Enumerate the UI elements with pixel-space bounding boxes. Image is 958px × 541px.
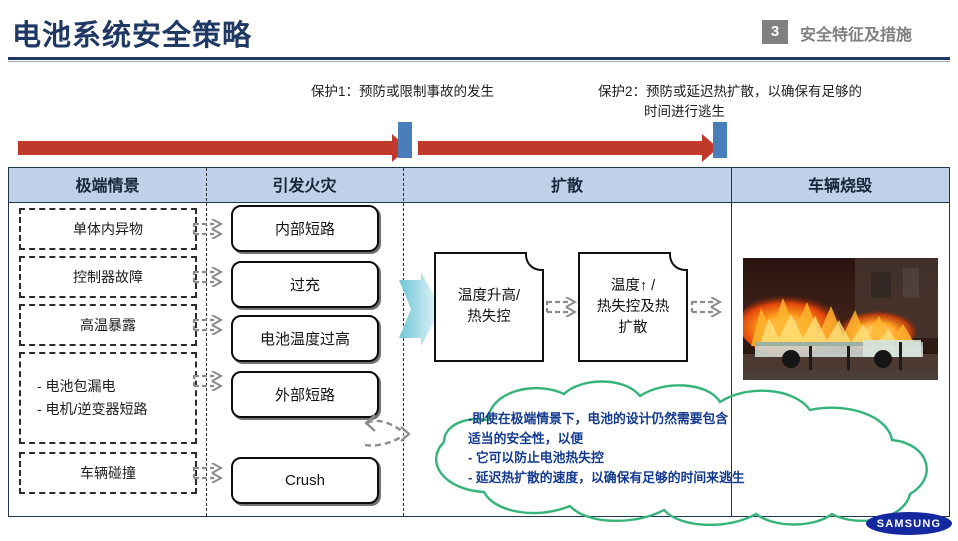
cause-box-1[interactable]: 内部短路 — [231, 205, 379, 252]
cause-label-4: 外部短路 — [275, 384, 335, 405]
section-number-badge: 3 — [762, 20, 788, 44]
connector-arrow-2 — [192, 267, 226, 287]
connector-arrow-5 — [192, 463, 226, 483]
slide-root: 电池系统安全策略 3 安全特征及措施 保护1：预防或限制事故的发生 保护2：预防… — [0, 0, 958, 541]
cloud-callout-text: -即使在极端情景下，电池的设计仍然需要包含 适当的安全性，以便 - 它可以防止电… — [468, 409, 898, 487]
protection-2-caption: 保护2：预防或延迟热扩散，以确保有足够的 时间进行逃生 — [598, 82, 862, 122]
scenario-label-5: 车辆碰撞 — [80, 463, 136, 483]
scenario-label-2: 控制器故障 — [73, 267, 143, 287]
protection-2-marker — [713, 122, 727, 158]
scenario-box-5[interactable]: 车辆碰撞 — [19, 452, 197, 494]
scenario-label-1: 单体内异物 — [73, 219, 143, 239]
connector-arrow-1 — [192, 219, 226, 239]
column-header-extreme-scenario: 极端情景 — [9, 168, 206, 203]
protection-2-arrow — [418, 141, 703, 155]
header-rule — [8, 57, 950, 60]
section-label: 安全特征及措施 — [800, 21, 912, 45]
cloud-line-4: - 延迟热扩散的速度，以确保有足够的时间来逃生 — [468, 468, 898, 488]
spread-connector-arrow-1 — [545, 297, 581, 317]
spread-label-1: 温度升高/ 热失控 — [458, 286, 520, 328]
folded-corner-icon — [669, 252, 688, 271]
cause-box-2[interactable]: 过充 — [231, 261, 379, 308]
logo-wordmark: SAMSUNG — [866, 512, 952, 535]
cause-label-3: 电池温度过高 — [260, 328, 350, 349]
column-header-vehicle-burnt: 车辆烧毁 — [731, 168, 949, 203]
spread-label-1-line1: 温度升高/ — [458, 286, 520, 307]
cloud-line-2: 适当的安全性，以便 — [468, 429, 898, 449]
scenario-box-1[interactable]: 单体内异物 — [19, 208, 197, 250]
cause-label-1: 内部短路 — [275, 218, 335, 239]
protection-1-marker — [398, 122, 412, 158]
scenario-box-4[interactable]: - 电池包漏电 - 电机/逆变器短路 — [19, 352, 197, 444]
scenario-box-3[interactable]: 高温暴露 — [19, 304, 197, 346]
spread-label-2: 温度↑ / 热失控及热 扩散 — [597, 276, 670, 339]
spread-connector-arrow-2 — [690, 297, 726, 317]
column-header-fire-trigger: 引发火灾 — [206, 168, 403, 203]
spread-label-2-line1: 温度↑ / — [597, 276, 670, 297]
folded-corner-icon — [525, 252, 544, 271]
scenario-label-3: 高温暴露 — [80, 315, 136, 335]
scenario-label-4-line1: - 电池包漏电 — [37, 375, 147, 398]
protection-2-line2: 时间进行逃生 — [598, 102, 862, 122]
connector-arrow-3 — [192, 315, 226, 335]
scenario-label-4-line2: - 电机/逆变器短路 — [37, 398, 147, 421]
cause-label-5: Crush — [285, 472, 325, 489]
cloud-line-1: -即使在极端情景下，电池的设计仍然需要包含 — [468, 409, 898, 429]
cause-box-3[interactable]: 电池温度过高 — [231, 315, 379, 362]
scenario-box-2[interactable]: 控制器故障 — [19, 256, 197, 298]
column-header-spread: 扩散 — [403, 168, 731, 203]
burning-bus-photo — [743, 258, 938, 380]
protection-2-line1: 保护2：预防或延迟热扩散，以确保有足够的 — [598, 84, 862, 99]
spread-box-1[interactable]: 温度升高/ 热失控 — [434, 252, 544, 362]
cloud-line-3: - 它可以防止电池热失控 — [468, 448, 898, 468]
header-rule-thin — [8, 61, 950, 62]
cause-box-5[interactable]: Crush — [231, 457, 379, 504]
protection-1-caption: 保护1：预防或限制事故的发生 — [311, 82, 494, 102]
page-title: 电池系统安全策略 — [12, 12, 252, 54]
spread-label-2-line2: 热失控及热 — [597, 297, 670, 318]
cause-label-2: 过充 — [290, 274, 320, 295]
spread-box-2[interactable]: 温度↑ / 热失控及热 扩散 — [578, 252, 688, 362]
spread-label-1-line2: 热失控 — [458, 307, 520, 328]
connector-arrow-4 — [192, 371, 226, 391]
cause-box-4[interactable]: 外部短路 — [231, 371, 379, 418]
curved-dashed-arrow — [361, 411, 421, 466]
protection-1-arrow — [18, 141, 393, 155]
scenario-label-4: - 电池包漏电 - 电机/逆变器短路 — [37, 375, 147, 421]
samsung-logo: SAMSUNG — [866, 512, 952, 535]
spread-label-2-line3: 扩散 — [597, 318, 670, 339]
